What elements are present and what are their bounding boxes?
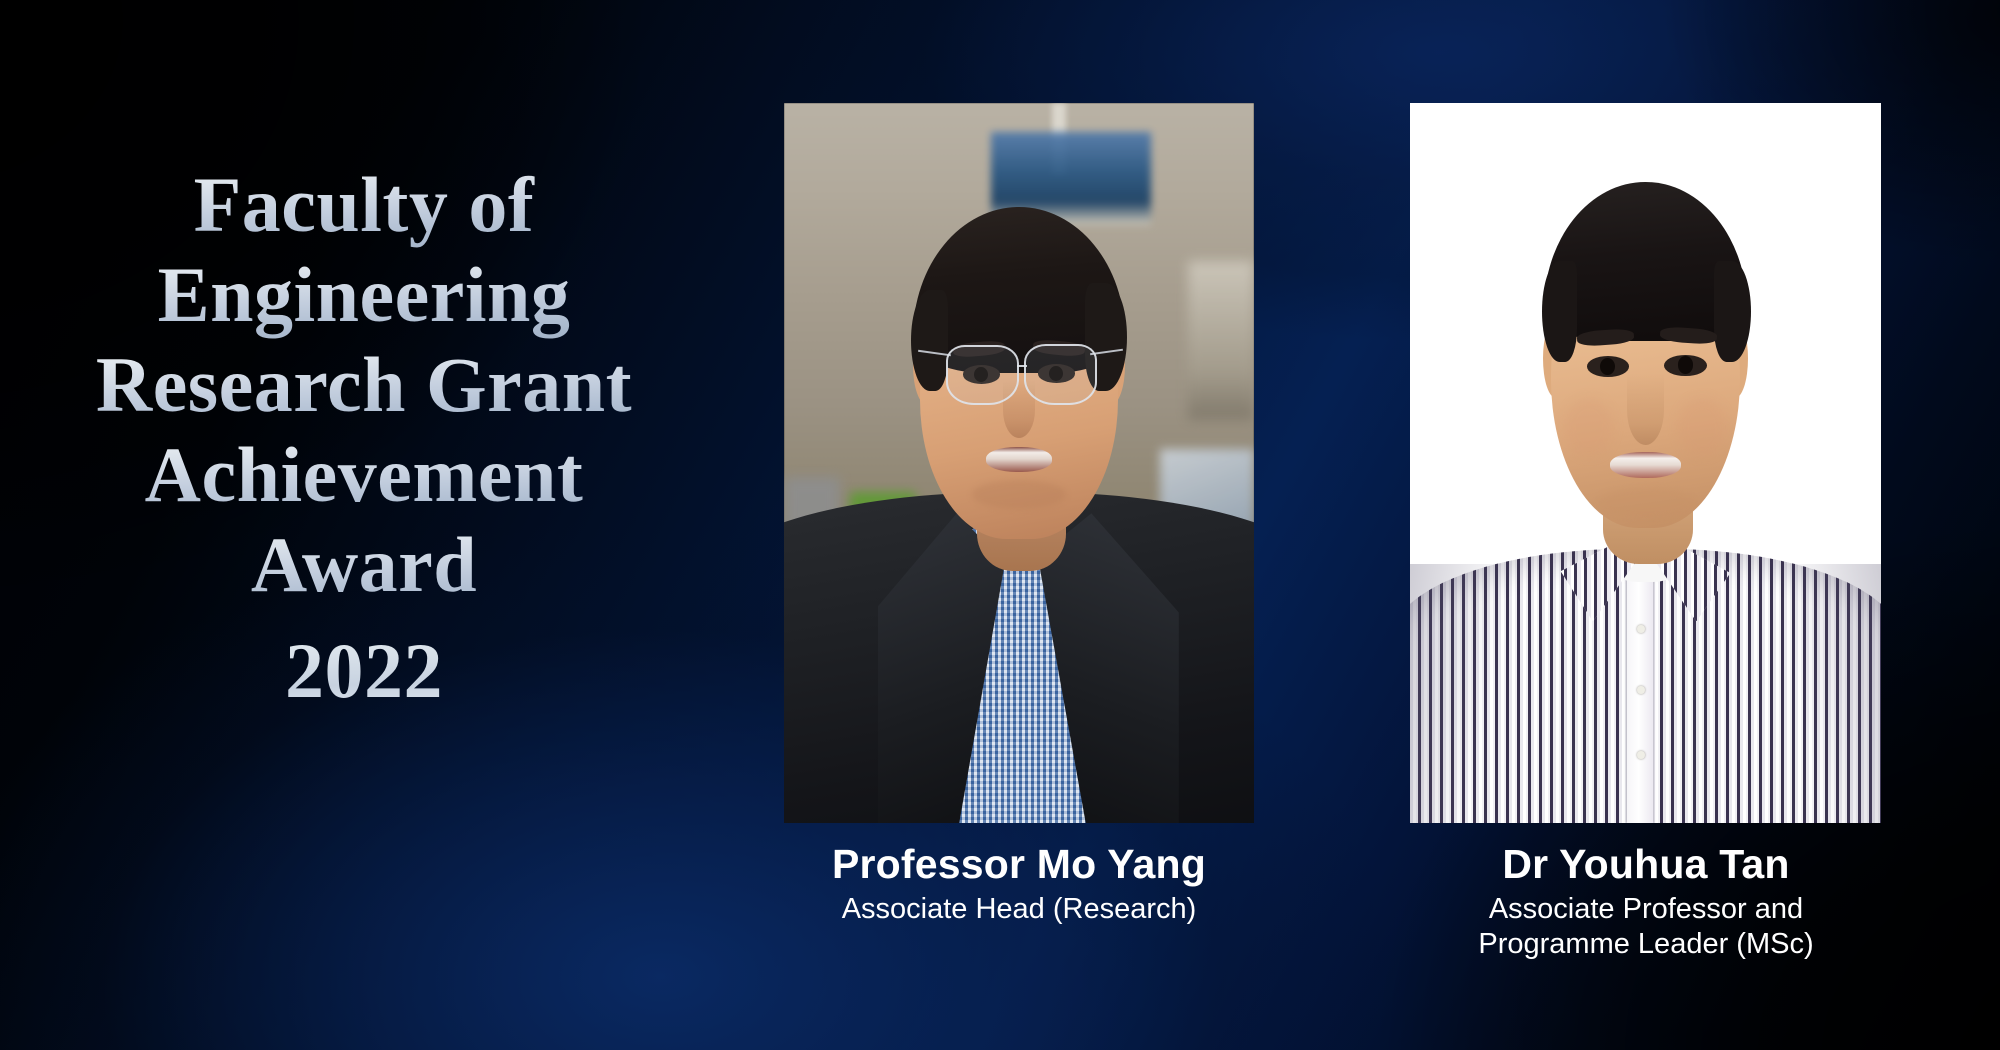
portrait-cheek-right xyxy=(1678,398,1725,456)
awardee-name: Professor Mo Yang xyxy=(744,840,1294,888)
portrait-shirt-button-3 xyxy=(1637,751,1645,759)
awardee-role-line-2: Programme Leader (MSc) xyxy=(1376,927,1916,962)
title-year: 2022 xyxy=(14,626,714,716)
glasses-lens-left xyxy=(946,345,1019,405)
portrait-mouth xyxy=(986,447,1052,471)
award-title: Faculty of Engineering Research Grant Ac… xyxy=(14,160,714,716)
awardee-caption-youhua-tan: Dr Youhua Tan Associate Professor and Pr… xyxy=(1376,840,1916,962)
portrait-chin xyxy=(1598,488,1692,517)
portrait-hair-side-left xyxy=(911,290,949,391)
portrait-shirt-button-1 xyxy=(1637,625,1645,633)
awardee-role-line-1: Associate Professor and xyxy=(1376,892,1916,927)
portrait-pupil-right xyxy=(1678,356,1693,373)
photo-bg-equipment-upper xyxy=(1188,261,1254,419)
awardee-photo-youhua-tan xyxy=(1410,103,1881,823)
glasses-bridge xyxy=(1017,365,1026,367)
awardee-photo-mo-yang xyxy=(784,103,1254,823)
portrait-nose xyxy=(1627,373,1665,445)
awardee-name: Dr Youhua Tan xyxy=(1376,840,1916,888)
portrait-shirt-button-2 xyxy=(1637,686,1645,694)
portrait-shoulder-shadow-left xyxy=(1410,564,1514,823)
portrait-pupil-left xyxy=(1600,358,1615,375)
title-line-1: Faculty of xyxy=(14,160,714,250)
award-slide: Faculty of Engineering Research Grant Ac… xyxy=(0,0,2000,1050)
awardee-role-line-1: Associate Head (Research) xyxy=(744,892,1294,927)
title-line-4: Achievement xyxy=(14,430,714,520)
portrait-cheek-left xyxy=(1565,398,1612,456)
portrait-mouth xyxy=(1610,452,1681,478)
portrait-shirt-placket xyxy=(1627,578,1653,823)
title-line-2: Engineering xyxy=(14,250,714,340)
title-line-5: Award xyxy=(14,520,714,610)
portrait-hair-side-left xyxy=(1542,261,1577,362)
portrait-chin xyxy=(972,480,1066,509)
title-line-3: Research Grant xyxy=(14,340,714,430)
awardee-caption-mo-yang: Professor Mo Yang Associate Head (Resear… xyxy=(744,840,1294,927)
portrait-shoulder-shadow-right xyxy=(1777,564,1881,823)
glasses-lens-right xyxy=(1024,344,1097,404)
